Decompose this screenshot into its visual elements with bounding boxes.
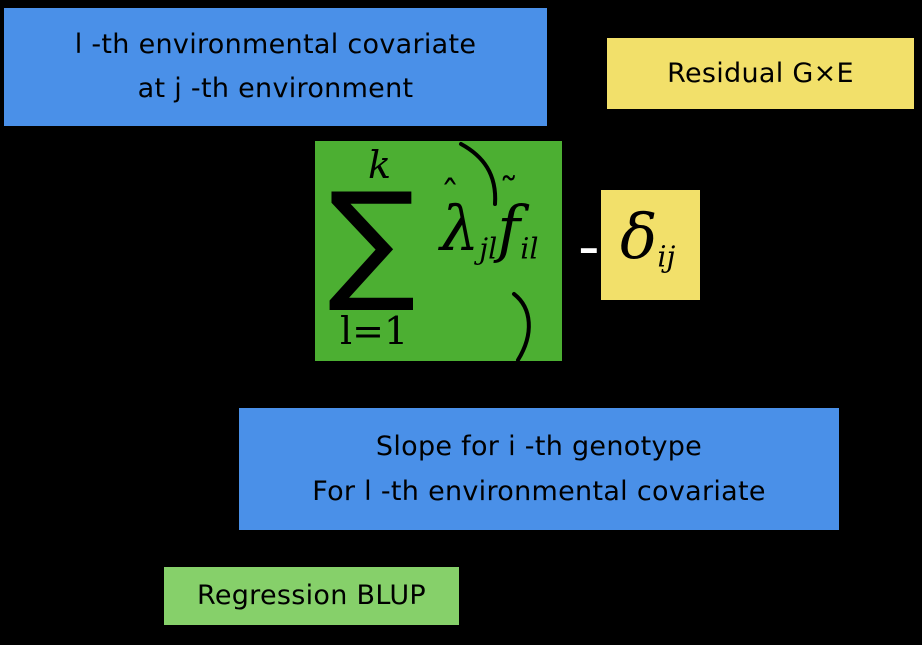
- annotation-blup-box: Regression BLUP: [164, 567, 459, 625]
- delta-subscript: ij: [657, 241, 675, 274]
- diagram-canvas: l -th environmental covariate at j -th e…: [0, 0, 922, 645]
- formula-minus-operator: -: [578, 212, 600, 282]
- annotation-covariate-box: l -th environmental covariate at j -th e…: [4, 8, 547, 126]
- annotation-residual-box: Residual G×E: [607, 38, 914, 109]
- tilde-accent-icon-delta: ˜: [629, 178, 648, 223]
- annotation-slope-line1: Slope for i -th genotype: [376, 429, 702, 465]
- annotation-slope-box: Slope for i -th genotype For l -th envir…: [239, 408, 839, 530]
- f-subscript: il: [520, 233, 538, 266]
- sigma-icon: ∑: [328, 179, 416, 303]
- formula-delta-term: ˜δij: [620, 200, 675, 274]
- summation-group: k ∑ l=1: [322, 143, 452, 358]
- delta-tilde-symbol: ˜δ: [620, 200, 657, 273]
- annotation-slope-line2: For l -th environmental covariate: [312, 474, 766, 510]
- close-paren-icon: [508, 290, 568, 365]
- annotation-covariate-line1: l -th environmental covariate: [75, 27, 477, 63]
- annotation-blup-text: Regression BLUP: [197, 578, 426, 614]
- lambda-subscript: jl: [479, 233, 497, 266]
- open-paren-icon: [455, 140, 515, 210]
- summation-lower-limit: l=1: [340, 309, 408, 353]
- annotation-residual-text: Residual G×E: [667, 56, 854, 92]
- annotation-covariate-line2: at j -th environment: [138, 71, 414, 107]
